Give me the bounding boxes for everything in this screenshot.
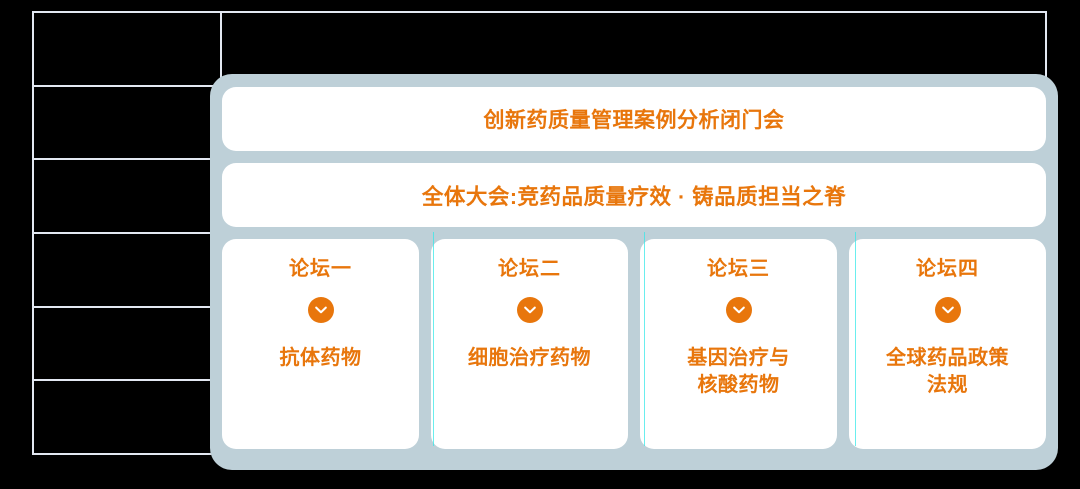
table-cell-left (34, 308, 222, 380)
forum-title: 论坛一 (289, 258, 352, 280)
forum-card-2[interactable]: 论坛二 细胞治疗药物 (431, 239, 628, 449)
table-cell-left (34, 160, 222, 232)
forum-card-row: 论坛一 抗体药物 论坛二 细胞治疗药物 论坛三 (222, 239, 1046, 449)
forum-card-1[interactable]: 论坛一 抗体药物 (222, 239, 419, 449)
chevron-down-circle-icon (308, 297, 334, 323)
forum-title: 论坛三 (707, 258, 770, 280)
banner-label: 全体大会:竞药品质量疗效 · 铸品质担当之脊 (422, 180, 846, 211)
chevron-down-circle-icon (517, 297, 543, 323)
table-cell-left (34, 87, 222, 159)
forum-topic: 基因治疗与 核酸药物 (687, 345, 790, 399)
agenda-panel: 创新药质量管理案例分析闭门会 全体大会:竞药品质量疗效 · 铸品质担当之脊 论坛… (210, 74, 1058, 470)
table-cell-left (34, 381, 222, 453)
forum-topic: 细胞治疗药物 (468, 345, 591, 372)
forum-title: 论坛二 (498, 258, 561, 280)
chevron-down-circle-icon (935, 297, 961, 323)
forum-topic: 全球药品政策 法规 (886, 345, 1009, 399)
table-cell-left (34, 13, 222, 85)
forum-title: 论坛四 (916, 258, 979, 280)
banner-label: 创新药质量管理案例分析闭门会 (484, 104, 785, 134)
forum-topic: 抗体药物 (280, 345, 362, 372)
forum-card-3[interactable]: 论坛三 基因治疗与 核酸药物 (640, 239, 837, 449)
banner-closed-door-session[interactable]: 创新药质量管理案例分析闭门会 (222, 87, 1046, 151)
forum-card-4[interactable]: 论坛四 全球药品政策 法规 (849, 239, 1046, 449)
table-cell-left (34, 234, 222, 306)
banner-plenary-session[interactable]: 全体大会:竞药品质量疗效 · 铸品质担当之脊 (222, 163, 1046, 227)
chevron-down-circle-icon (726, 297, 752, 323)
